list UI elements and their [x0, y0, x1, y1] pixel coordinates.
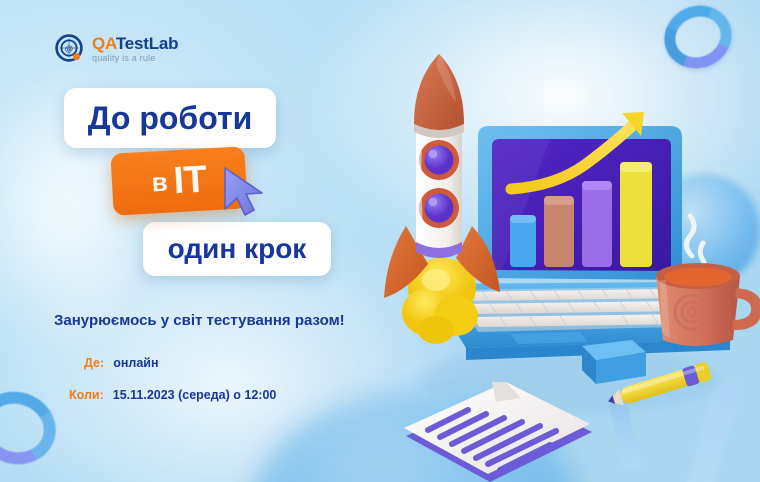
target-bullseye-icon: @ — [55, 34, 85, 64]
headline-card-line1: До роботи — [64, 88, 276, 148]
brand-name: QATestLab — [92, 35, 178, 52]
mouse-cursor-arrow-icon — [222, 163, 280, 225]
brand-name-testlab: TestLab — [116, 34, 179, 53]
illustration-group — [370, 40, 760, 482]
svg-text:@: @ — [65, 44, 73, 54]
mug-coffee — [664, 268, 732, 287]
brand-logo[interactable]: @ QATestLab quality is a rule — [55, 34, 178, 64]
brand-tagline: quality is a rule — [92, 54, 178, 63]
detail-label-where: Де: — [84, 356, 104, 370]
headline-badge-small-word: в — [151, 169, 168, 196]
headline-card-line3: один крок — [143, 222, 331, 276]
headline-badge-big-word: IT — [173, 161, 208, 201]
banner-root: @ QATestLab quality is a rule До роботи … — [0, 0, 760, 482]
mug-steam — [686, 216, 704, 262]
brand-name-qa: QA — [92, 34, 116, 53]
detail-value-where: онлайн — [113, 356, 158, 370]
detail-row-where: Де: онлайн — [84, 356, 159, 370]
torus-decoration-left — [0, 382, 64, 473]
brand-logo-text: QATestLab quality is a rule — [92, 35, 178, 63]
detail-value-when: 15.11.2023 (середа) о 12:00 — [113, 388, 277, 402]
details-tagline: Занурюємось у світ тестування разом! — [54, 312, 345, 329]
illustration-svg — [370, 40, 760, 482]
detail-label-when: Коли: — [69, 388, 104, 402]
detail-row-when: Коли: 15.11.2023 (середа) о 12:00 — [69, 388, 276, 402]
blue-block-icon — [582, 340, 646, 384]
